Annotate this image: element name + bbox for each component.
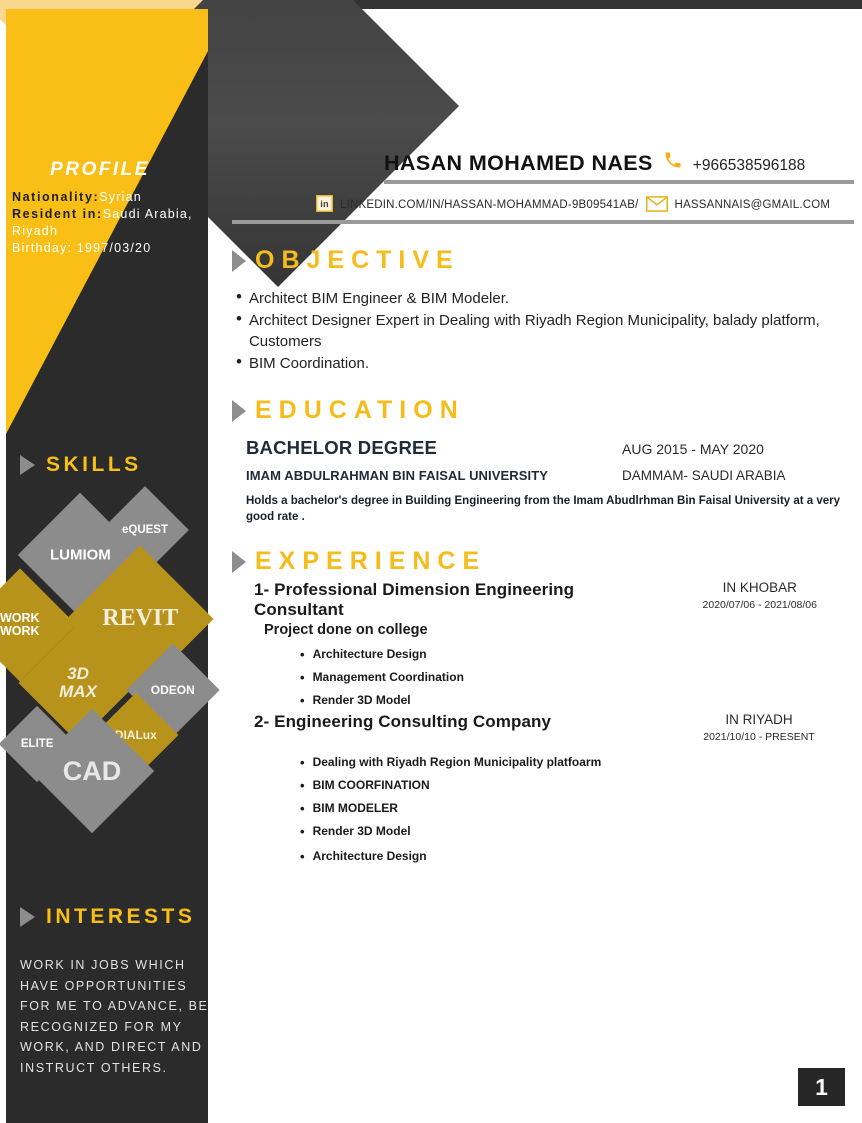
job-header: 2- Engineering Consulting Company IN RIY… [232,712,854,743]
envelope-icon[interactable] [646,196,668,215]
triangle-marker-icon [232,250,246,272]
skill-label-elite: ELITE [21,738,54,750]
section-header-experience: EXPERIENCE [232,547,854,576]
job-bullet-text: BIM COORFINATION [313,776,430,795]
profile-block: PROFILE Nationality:Syrian Resident in:S… [6,159,208,257]
interests-heading: INTERESTS [46,905,195,929]
education-heading: EDUCATION [255,396,465,425]
bullet-icon: • [300,799,305,818]
list-item: •Architecture Design [300,847,854,866]
triangle-marker-icon [232,400,246,422]
skill-label-odeon: ODEON [151,684,195,697]
profile-title: PROFILE [6,159,208,181]
contact-row: in LINKEDIN.COM/IN/HASSAN-MOHAMMAD-9B095… [232,195,854,215]
list-item: •BIM COORFINATION [300,776,854,795]
skill-label-lumiom: LUMIOM [50,547,111,563]
list-item: •Render 3D Model [300,822,854,841]
bullet-icon: • [236,288,242,309]
skill-label-3dmax: 3DMAX [59,665,97,701]
linkedin-icon[interactable]: in [316,195,333,215]
list-item: •Architect BIM Engineer & BIM Modeler. [236,288,854,309]
job-bullet-text: Architecture Design [313,847,427,866]
skill-label-equest: eQUEST [122,524,168,536]
job-bullet-text: Dealing with Riyadh Region Municipality … [313,753,602,772]
education-degree: BACHELOR DEGREE [246,437,437,459]
skill-label-3dmax-line2: MAX [59,682,97,701]
experience-job: 2- Engineering Consulting Company IN RIY… [232,712,854,866]
job-bullet-text: Architecture Design [313,645,427,664]
bullet-icon: • [300,645,305,664]
resume-page: PROFILE Nationality:Syrian Resident in:S… [0,0,862,1123]
job-subtitle: Project done on college [264,622,854,638]
skill-label-cad: CAD [63,757,122,785]
main-content: HASAN MOHAMED NAES +966538596188 in LINK… [232,150,854,870]
job-meta: IN KHOBAR 2020/07/06 - 2021/08/06 [666,580,855,611]
skill-label-work: WORKWORK [0,612,40,638]
skills-diamond-cluster: LUMIOM eQUEST REVIT WORKWORK 3DMAX ODEON [6,489,214,829]
bullet-icon: • [300,691,305,710]
name-row: HASAN MOHAMED NAES +966538596188 [232,150,854,176]
job-dates: 2021/10/10 - PRESENT [664,731,854,743]
section-header-objective: OBJECTIVE [232,246,854,275]
skill-label-work-line1: WORK [0,611,40,625]
education-location: DAMMAM- SAUDI ARABIA [622,468,854,483]
bullet-icon: • [300,847,305,866]
profile-birthday: Birthday: 1997/03/20 [12,240,208,257]
objective-item-text: Architect Designer Expert in Dealing wit… [249,310,854,352]
objective-heading: OBJECTIVE [255,246,460,275]
education-university-row: IMAM ABDULRAHMAN BIN FAISAL UNIVERSITY D… [246,468,854,483]
profile-resident-value2: Riyadh [12,223,208,240]
objective-item-text: BIM Coordination. [249,353,369,374]
name-underline [384,180,854,184]
skill-label-revit: REVIT [102,606,178,631]
job-title: 2- Engineering Consulting Company [254,712,551,732]
profile-nationality: Nationality:Syrian [12,189,208,206]
education-university: IMAM ABDULRAHMAN BIN FAISAL UNIVERSITY [246,468,548,483]
job-bullet-list: •Architecture Design •Management Coordin… [300,645,854,710]
list-item: •BIM MODELER [300,799,854,818]
phone-number[interactable]: +966538596188 [693,157,806,175]
triangle-marker-icon [20,907,35,927]
bullet-icon: • [300,822,305,841]
list-item: •Render 3D Model [300,691,854,710]
education-description: Holds a bachelor's degree in Building En… [246,494,854,525]
profile-resident-value: Saudi Arabia, [103,207,193,221]
list-item: •Architecture Design [300,645,854,664]
job-bullet-text: Render 3D Model [313,822,411,841]
contact-underline [232,220,854,224]
job-bullet-list: •Dealing with Riyadh Region Municipality… [300,753,854,866]
job-meta: IN RIYADH 2021/10/10 - PRESENT [664,712,854,743]
experience-job: 1- Professional Dimension Engineering Co… [232,580,854,710]
triangle-marker-icon [232,551,246,573]
job-title: 1- Professional Dimension Engineering Co… [254,580,666,620]
skills-heading: SKILLS [46,453,142,477]
list-item: •Management Coordination [300,668,854,687]
triangle-marker-icon [20,455,35,475]
bullet-icon: • [300,753,305,772]
education-degree-row: BACHELOR DEGREE AUG 2015 - MAY 2020 [246,437,854,459]
job-bullet-text: BIM MODELER [313,799,398,818]
profile-details: Nationality:Syrian Resident in:Saudi Ara… [6,189,208,257]
job-header: 1- Professional Dimension Engineering Co… [232,580,854,620]
list-item: •Architect Designer Expert in Dealing wi… [236,310,854,352]
sidebar: PROFILE Nationality:Syrian Resident in:S… [6,9,208,1123]
job-city: IN KHOBAR [666,580,855,595]
bullet-icon: • [300,776,305,795]
svg-text:in: in [320,199,329,209]
email-address[interactable]: HASSANNAIS@GMAIL.COM [675,199,831,211]
skill-label-work-line2: WORK [0,624,40,638]
profile-nationality-value: Syrian [99,190,142,204]
bullet-icon: • [236,310,242,352]
phone-icon [663,150,683,175]
page-number-badge: 1 [798,1068,845,1106]
skill-label-3dmax-line1: 3D [67,664,89,683]
profile-resident: Resident in:Saudi Arabia, [12,206,208,223]
experience-heading: EXPERIENCE [255,547,486,576]
profile-resident-label: Resident in: [12,207,103,221]
interests-text: WORK IN JOBS WHICH HAVE OPPORTUNITIES FO… [20,955,210,1078]
linkedin-url[interactable]: LINKEDIN.COM/IN/HASSAN-MOHAMMAD-9B09541A… [340,199,639,211]
education-date: AUG 2015 - MAY 2020 [622,441,854,457]
job-bullet-text: Management Coordination [313,668,464,687]
list-item: •Dealing with Riyadh Region Municipality… [300,753,854,772]
section-header-education: EDUCATION [232,396,854,425]
objective-list: •Architect BIM Engineer & BIM Modeler. •… [236,288,854,374]
job-city: IN RIYADH [664,712,854,727]
page-title: HASAN MOHAMED NAES [384,151,653,176]
job-bullet-text: Render 3D Model [313,691,411,710]
sidebar-section-interests: INTERESTS [6,905,208,929]
job-dates: 2020/07/06 - 2021/08/06 [666,599,855,611]
profile-nationality-label: Nationality: [12,190,99,204]
objective-item-text: Architect BIM Engineer & BIM Modeler. [249,288,509,309]
list-item: •BIM Coordination. [236,353,854,374]
bullet-icon: • [236,353,242,374]
bullet-icon: • [300,668,305,687]
sidebar-section-skills: SKILLS [6,453,208,477]
